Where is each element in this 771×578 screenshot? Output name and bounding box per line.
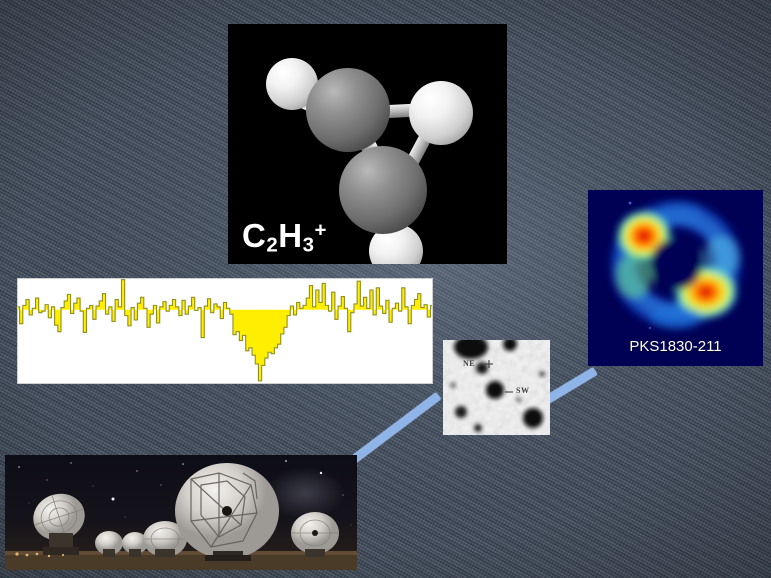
connector-optical-to-pks [543,367,597,405]
alma-photo-svg [5,455,357,570]
carbon-atom-2 [339,146,427,234]
spectrum-plot[interactable] [17,278,433,384]
optical-label-ne: NE [463,359,475,368]
optical-label-sw: SW [516,386,529,395]
alma-array-photo[interactable] [5,455,357,570]
formula-h-count: 3 [303,234,315,257]
pks-noise-speck-1 [629,202,632,205]
alma-antenna-hub [222,506,232,516]
pks-radio-map[interactable]: PKS1830-211 [588,190,763,366]
formula-h: H [278,217,302,254]
connector-alma-to-optical [347,392,442,467]
pks-einstein-ring [616,202,740,329]
pks-radio-map-svg [588,190,763,340]
formula-charge: + [314,218,326,241]
formula-c-count: 2 [266,234,278,257]
formula-c: C [242,217,266,254]
molecule-formula-label: C2H3+ [242,219,327,256]
carbon-atom-1 [306,68,390,152]
molecule-image[interactable]: C2H3+ [228,24,507,264]
spectrum-svg [18,279,432,383]
pks-label: PKS1830-211 [588,338,763,355]
optical-field-svg [443,340,550,435]
optical-field-image[interactable]: NE SW [443,340,550,435]
hydrogen-atom-2 [409,81,473,145]
slide-canvas: C2H3+ [0,0,771,578]
pks-noise-speck-2 [649,327,651,329]
